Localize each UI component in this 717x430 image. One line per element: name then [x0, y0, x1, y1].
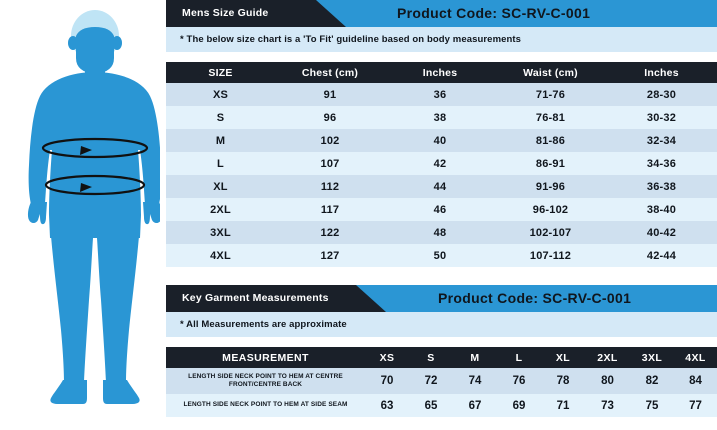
- column-header-chest-cm: Chest (cm): [275, 62, 385, 83]
- cell-xs: 63: [365, 394, 409, 417]
- cell-waist-cm: 76-81: [495, 106, 606, 129]
- cell-size: L: [166, 152, 275, 175]
- cell-chest-in: 40: [385, 129, 495, 152]
- cell-waist-cm: 71-76: [495, 83, 606, 106]
- table-row: XS 91 36 71-76 28-30: [166, 83, 717, 106]
- cell-waist-in: 36-38: [606, 175, 717, 198]
- table-row: 3XL 122 48 102-107 40-42: [166, 221, 717, 244]
- cell-size: S: [166, 106, 275, 129]
- cell-3xl: 82: [630, 368, 674, 394]
- cell-waist-cm: 91-96: [495, 175, 606, 198]
- garment-measurements-note: * All Measurements are approximate: [166, 312, 717, 337]
- spacer: [166, 267, 717, 285]
- column-header-l: L: [497, 347, 541, 368]
- spacer: [166, 52, 717, 62]
- cell-chest-cm: 112: [275, 175, 385, 198]
- column-header-waist-cm: Waist (cm): [495, 62, 606, 83]
- table-row: L 107 42 86-91 34-36: [166, 152, 717, 175]
- cell-size: M: [166, 129, 275, 152]
- size-guide-banner: Mens Size Guide Product Code: SC-RV-C-00…: [166, 0, 717, 27]
- column-header-m: M: [453, 347, 497, 368]
- table-row: LENGTH SIDE NECK POINT TO HEM AT CENTRE …: [166, 368, 717, 394]
- table-row: LENGTH SIDE NECK POINT TO HEM AT SIDE SE…: [166, 394, 717, 417]
- cell-m: 67: [453, 394, 497, 417]
- cell-waist-cm: 107-112: [495, 244, 606, 267]
- table-row: 2XL 117 46 96-102 38-40: [166, 198, 717, 221]
- cell-chest-in: 42: [385, 152, 495, 175]
- cell-l: 69: [497, 394, 541, 417]
- cell-chest-cm: 96: [275, 106, 385, 129]
- size-guide-note: * The below size chart is a 'To Fit' gui…: [166, 27, 717, 52]
- garment-measurements-product-code: Product Code: SC-RV-C-001: [438, 285, 631, 312]
- size-guide-product-code: Product Code: SC-RV-C-001: [397, 0, 590, 27]
- size-guide-table: SIZE Chest (cm) Inches Waist (cm) Inches…: [166, 62, 717, 267]
- column-header-2xl: 2XL: [585, 347, 630, 368]
- size-guide-page: Mens Size Guide Product Code: SC-RV-C-00…: [0, 0, 717, 425]
- table-row: XL 112 44 91-96 36-38: [166, 175, 717, 198]
- cell-size: XL: [166, 175, 275, 198]
- cell-xs: 70: [365, 368, 409, 394]
- cell-waist-in: 42-44: [606, 244, 717, 267]
- cell-l: 76: [497, 368, 541, 394]
- column-header-3xl: 3XL: [630, 347, 674, 368]
- cell-measurement-label: LENGTH SIDE NECK POINT TO HEM AT SIDE SE…: [166, 394, 365, 417]
- column-header-measurement: MEASUREMENT: [166, 347, 365, 368]
- cell-size: 3XL: [166, 221, 275, 244]
- cell-waist-in: 34-36: [606, 152, 717, 175]
- tables-column: Mens Size Guide Product Code: SC-RV-C-00…: [166, 0, 717, 425]
- cell-chest-cm: 122: [275, 221, 385, 244]
- cell-m: 74: [453, 368, 497, 394]
- cell-xl: 71: [541, 394, 585, 417]
- cell-chest-in: 36: [385, 83, 495, 106]
- body-figure-panel: [0, 0, 160, 425]
- size-guide-banner-title: Mens Size Guide: [182, 0, 268, 27]
- table-header-row: MEASUREMENT XS S M L XL 2XL 3XL 4XL: [166, 347, 717, 368]
- column-header-4xl: 4XL: [674, 347, 717, 368]
- cell-waist-in: 32-34: [606, 129, 717, 152]
- cell-size: 2XL: [166, 198, 275, 221]
- cell-waist-cm: 102-107: [495, 221, 606, 244]
- garment-measurements-banner-title: Key Garment Measurements: [182, 285, 329, 312]
- cell-2xl: 80: [585, 368, 630, 394]
- cell-chest-in: 46: [385, 198, 495, 221]
- cell-waist-in: 38-40: [606, 198, 717, 221]
- cell-waist-cm: 81-86: [495, 129, 606, 152]
- cell-4xl: 84: [674, 368, 717, 394]
- cell-chest-in: 44: [385, 175, 495, 198]
- cell-size: XS: [166, 83, 275, 106]
- cell-s: 72: [409, 368, 453, 394]
- table-row: 4XL 127 50 107-112 42-44: [166, 244, 717, 267]
- cell-chest-cm: 102: [275, 129, 385, 152]
- column-header-xs: XS: [365, 347, 409, 368]
- cell-chest-cm: 127: [275, 244, 385, 267]
- cell-s: 65: [409, 394, 453, 417]
- cell-2xl: 73: [585, 394, 630, 417]
- garment-measurements-banner: Key Garment Measurements Product Code: S…: [166, 285, 717, 312]
- table-header-row: SIZE Chest (cm) Inches Waist (cm) Inches: [166, 62, 717, 83]
- cell-waist-in: 30-32: [606, 106, 717, 129]
- column-header-xl: XL: [541, 347, 585, 368]
- cell-size: 4XL: [166, 244, 275, 267]
- cell-chest-in: 48: [385, 221, 495, 244]
- column-header-size: SIZE: [166, 62, 275, 83]
- cell-chest-in: 50: [385, 244, 495, 267]
- garment-measurements-table: MEASUREMENT XS S M L XL 2XL 3XL 4XL LENG…: [166, 347, 717, 417]
- cell-waist-in: 28-30: [606, 83, 717, 106]
- column-header-s: S: [409, 347, 453, 368]
- spacer: [166, 337, 717, 347]
- male-body-silhouette-icon: [0, 0, 160, 425]
- cell-chest-cm: 107: [275, 152, 385, 175]
- cell-measurement-label: LENGTH SIDE NECK POINT TO HEM AT CENTRE …: [166, 368, 365, 394]
- column-header-chest-inches: Inches: [385, 62, 495, 83]
- column-header-waist-inches: Inches: [606, 62, 717, 83]
- cell-xl: 78: [541, 368, 585, 394]
- table-row: M 102 40 81-86 32-34: [166, 129, 717, 152]
- cell-waist-cm: 86-91: [495, 152, 606, 175]
- cell-4xl: 77: [674, 394, 717, 417]
- cell-waist-cm: 96-102: [495, 198, 606, 221]
- cell-waist-in: 40-42: [606, 221, 717, 244]
- cell-chest-cm: 117: [275, 198, 385, 221]
- cell-chest-in: 38: [385, 106, 495, 129]
- cell-chest-cm: 91: [275, 83, 385, 106]
- table-row: S 96 38 76-81 30-32: [166, 106, 717, 129]
- cell-3xl: 75: [630, 394, 674, 417]
